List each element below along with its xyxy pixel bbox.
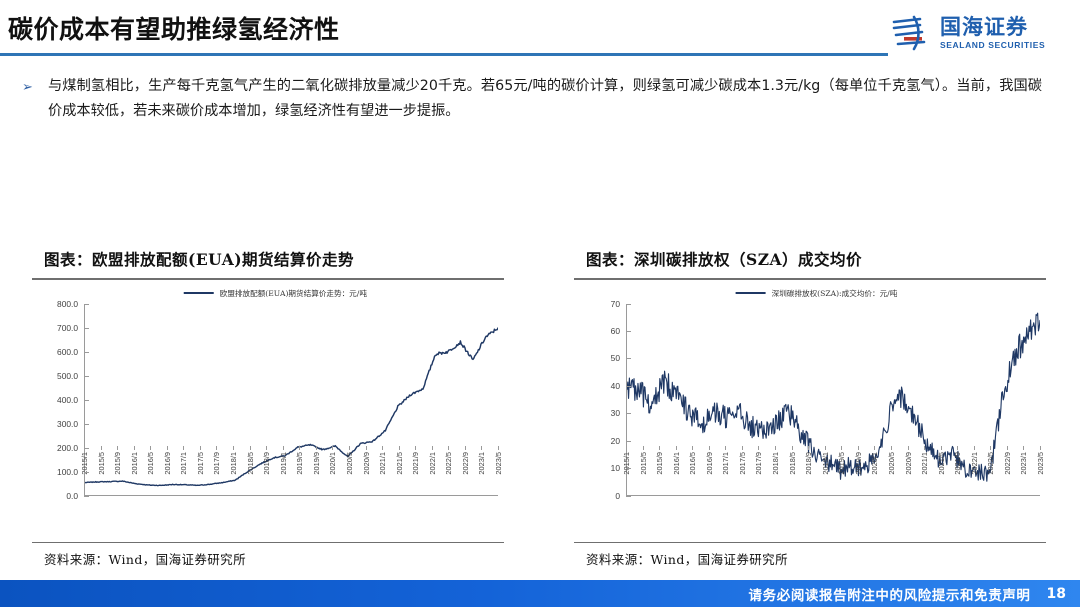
sealand-logo-mark-icon [890, 13, 932, 53]
x-axis-tickmark [498, 446, 499, 450]
x-axis-tick: 2015/5 [639, 452, 648, 475]
y-axis-tickmark [84, 304, 89, 305]
x-axis-tickmark [382, 446, 383, 450]
chart-legend-sza: 深圳碳排放权(SZA):成交均价：元/吨 [736, 288, 898, 299]
x-axis-tickmark [742, 446, 743, 450]
x-axis-tickmark [659, 446, 660, 450]
y-axis-tick: 700.0 [57, 323, 78, 333]
body-paragraph: 与煤制氢相比，生产每千克氢气产生的二氧化碳排放量减少20千克。若65元/吨的碳价… [48, 74, 1058, 124]
x-axis-tickmark [117, 446, 118, 450]
x-axis-tickmark [676, 446, 677, 450]
x-axis-tick: 2017/1 [721, 452, 730, 475]
y-axis-tickmark [626, 441, 631, 442]
logo-name-cn: 国海证券 [940, 17, 1045, 38]
logo-text: 国海证券 SEALAND SECURITIES [940, 17, 1045, 50]
y-axis-tickmark [626, 358, 631, 359]
y-axis-tickmark [84, 448, 89, 449]
x-axis-tick: 2021/5 [395, 452, 404, 475]
x-axis-tick: 2023/5 [494, 452, 503, 475]
x-axis-tick: 2019/9 [312, 452, 321, 475]
x-axis-tickmark [709, 446, 710, 450]
slide-footer: 请务必阅读报告附注中的风险提示和免责声明 18 [0, 580, 1080, 607]
x-axis-tickmark [299, 446, 300, 450]
x-axis-tick: 2018/9 [804, 452, 813, 475]
x-axis-tick: 2015/1 [622, 452, 631, 475]
x-axis-tickmark [692, 446, 693, 450]
x-axis-tick: 2015/9 [113, 452, 122, 475]
x-axis-tickmark [775, 446, 776, 450]
x-axis-tickmark [1007, 446, 1008, 450]
chart-source-eua: 资料来源：Wind，国海证券研究所 [32, 543, 504, 568]
x-axis-tickmark [626, 446, 627, 450]
x-axis-tick: 2021/1 [920, 452, 929, 475]
x-axis-tick: 2023/1 [477, 452, 486, 475]
x-axis-tickmark [725, 446, 726, 450]
x-axis-tickmark [233, 446, 234, 450]
x-axis-tickmark [216, 446, 217, 450]
x-axis-tickmark [250, 446, 251, 450]
x-axis-tick: 2021/9 [953, 452, 962, 475]
y-axis-tick: 70 [611, 299, 620, 309]
y-axis-tickmark [626, 386, 631, 387]
chart-body-sza: 深圳碳排放权(SZA):成交均价：元/吨 010203040506070 201… [574, 280, 1046, 542]
plot-wrap-eua: 0.0100.0200.0300.0400.0500.0600.0700.080… [32, 304, 498, 496]
y-axis-tick: 400.0 [57, 395, 78, 405]
x-axis-tick: 2018/1 [229, 452, 238, 475]
y-axis-tick: 30 [611, 408, 620, 418]
arrow-bullet-icon: ➢ [18, 74, 48, 124]
page-number: 18 [1047, 586, 1066, 602]
x-axis-tick: 2017/9 [754, 452, 763, 475]
x-axis-eua: 2015/12015/52015/92016/12016/52016/92017… [84, 450, 498, 496]
y-axis-tickmark [626, 304, 631, 305]
company-logo: 国海证券 SEALAND SECURITIES [890, 11, 1070, 55]
page-title: 碳价成本有望助推绿氢经济性 [8, 10, 340, 46]
x-axis-tickmark [283, 446, 284, 450]
x-axis-tick: 2016/1 [130, 452, 139, 475]
chart-panel-eua: 图表：欧盟排放配额(EUA)期货结算价走势 欧盟排放配额(EUA)期货结算价走势… [32, 244, 504, 580]
x-axis-tickmark [316, 446, 317, 450]
x-axis-tickmark [332, 446, 333, 450]
plot-wrap-sza: 010203040506070 2015/12015/52015/92016/1… [574, 304, 1040, 496]
bullet-paragraph-row: ➢ 与煤制氢相比，生产每千克氢气产生的二氧化碳排放量减少20千克。若65元/吨的… [18, 74, 1058, 124]
y-axis-tickmark [84, 376, 89, 377]
x-axis-tickmark [1023, 446, 1024, 450]
x-axis-tickmark [167, 446, 168, 450]
x-axis-tick: 2015/9 [655, 452, 664, 475]
y-axis-tickmark [626, 468, 631, 469]
legend-swatch-icon [736, 292, 766, 295]
y-axis-eua: 0.0100.0200.0300.0400.0500.0600.0700.080… [32, 304, 84, 496]
x-axis-tickmark [792, 446, 793, 450]
y-axis-tick: 600.0 [57, 347, 78, 357]
x-axis-tickmark [200, 446, 201, 450]
x-axis-tickmark [841, 446, 842, 450]
y-axis-tickmark [84, 424, 89, 425]
chart-body-eua: 欧盟排放配额(EUA)期货结算价走势：元/吨 0.0100.0200.0300.… [32, 280, 504, 542]
x-axis-tick: 2022/1 [428, 452, 437, 475]
y-axis-tickmark [84, 496, 89, 497]
x-axis-tickmark [415, 446, 416, 450]
x-axis-tick: 2016/9 [163, 452, 172, 475]
chart-title-eua: 图表：欧盟排放配额(EUA)期货结算价走势 [32, 244, 504, 278]
x-axis-tick: 2016/9 [705, 452, 714, 475]
x-axis-tick: 2017/1 [179, 452, 188, 475]
x-axis-tickmark [891, 446, 892, 450]
y-axis-tickmark [84, 400, 89, 401]
x-axis-tickmark [643, 446, 644, 450]
y-axis-sza: 010203040506070 [574, 304, 626, 496]
x-axis-tickmark [941, 446, 942, 450]
x-axis-sza: 2015/12015/52015/92016/12016/52016/92017… [626, 450, 1040, 496]
chart-source-sza: 资料来源：Wind，国海证券研究所 [574, 543, 1046, 568]
x-axis-tick: 2017/9 [212, 452, 221, 475]
x-axis-tickmark [366, 446, 367, 450]
x-axis-tick: 2019/1 [279, 452, 288, 475]
slide-header: 碳价成本有望助推绿氢经济性 国海证券 [0, 0, 1080, 62]
x-axis-tick: 2020/5 [887, 452, 896, 475]
x-axis-tick: 2021/9 [411, 452, 420, 475]
y-axis-tickmark [84, 352, 89, 353]
x-axis-tickmark [874, 446, 875, 450]
x-axis-tick: 2023/5 [1036, 452, 1045, 475]
logo-name-en: SEALAND SECURITIES [940, 41, 1045, 50]
x-axis-tick: 2022/5 [444, 452, 453, 475]
chart-title-sza: 图表：深圳碳排放权（SZA）成交均价 [574, 244, 1046, 278]
x-axis-tickmark [825, 446, 826, 450]
y-axis-tick: 0 [615, 491, 620, 501]
footer-disclaimer: 请务必阅读报告附注中的风险提示和免责声明 [749, 584, 1031, 604]
title-underline [0, 53, 888, 56]
x-axis-tickmark [758, 446, 759, 450]
y-axis-tick: 60 [611, 326, 620, 336]
x-axis-tickmark [101, 446, 102, 450]
x-axis-tick: 2020/1 [870, 452, 879, 475]
x-axis-tickmark [974, 446, 975, 450]
x-axis-tick: 2017/5 [196, 452, 205, 475]
y-axis-tick: 50 [611, 353, 620, 363]
x-axis-tick: 2022/9 [1003, 452, 1012, 475]
y-axis-tick: 20 [611, 436, 620, 446]
x-axis-tickmark [183, 446, 184, 450]
x-axis-tick: 2018/5 [788, 452, 797, 475]
x-axis-tick: 2015/5 [97, 452, 106, 475]
x-axis-tick: 2017/5 [738, 452, 747, 475]
x-axis-tick: 2023/1 [1019, 452, 1028, 475]
chart-legend-eua: 欧盟排放配额(EUA)期货结算价走势：元/吨 [184, 288, 367, 299]
x-axis-tick: 2018/5 [246, 452, 255, 475]
x-axis-tickmark [1040, 446, 1041, 450]
chart-panel-sza: 图表：深圳碳排放权（SZA）成交均价 深圳碳排放权(SZA):成交均价：元/吨 … [574, 244, 1046, 580]
y-axis-tickmark [84, 472, 89, 473]
x-axis-tickmark [908, 446, 909, 450]
x-axis-tick: 2022/5 [986, 452, 995, 475]
slide: 碳价成本有望助推绿氢经济性 国海证券 [0, 0, 1080, 607]
x-axis-tick: 2016/5 [146, 452, 155, 475]
x-axis-tickmark [150, 446, 151, 450]
y-axis-tickmark [626, 331, 631, 332]
x-axis-tick: 2021/5 [937, 452, 946, 475]
legend-swatch-icon [184, 292, 214, 295]
x-axis-tickmark [448, 446, 449, 450]
x-axis-tick: 2020/9 [362, 452, 371, 475]
x-axis-tick: 2019/9 [854, 452, 863, 475]
x-axis-tickmark [349, 446, 350, 450]
x-axis-tickmark [399, 446, 400, 450]
y-axis-tick: 100.0 [57, 467, 78, 477]
y-axis-tick: 40 [611, 381, 620, 391]
x-axis-tick: 2022/1 [970, 452, 979, 475]
y-axis-tick: 200.0 [57, 443, 78, 453]
x-axis-tick: 2018/1 [771, 452, 780, 475]
x-axis-tickmark [957, 446, 958, 450]
x-axis-tickmark [858, 446, 859, 450]
x-axis-tick: 2019/5 [837, 452, 846, 475]
x-axis-tickmark [134, 446, 135, 450]
x-axis-tick: 2020/5 [345, 452, 354, 475]
x-axis-tick: 2019/5 [295, 452, 304, 475]
x-axis-tickmark [924, 446, 925, 450]
y-axis-tickmark [626, 413, 631, 414]
x-axis-tick: 2019/1 [821, 452, 830, 475]
legend-label-sza: 深圳碳排放权(SZA):成交均价：元/吨 [772, 288, 898, 299]
y-axis-tickmark [626, 496, 631, 497]
x-axis-tickmark [266, 446, 267, 450]
x-axis-tick: 2020/1 [328, 452, 337, 475]
legend-label-eua: 欧盟排放配额(EUA)期货结算价走势：元/吨 [220, 288, 367, 299]
x-axis-tickmark [481, 446, 482, 450]
y-axis-tick: 10 [611, 463, 620, 473]
y-axis-tick: 0.0 [66, 491, 78, 501]
x-axis-tickmark [990, 446, 991, 450]
y-axis-tick: 300.0 [57, 419, 78, 429]
x-axis-tick: 2020/9 [904, 452, 913, 475]
x-axis-tickmark [808, 446, 809, 450]
x-axis-tick: 2016/1 [672, 452, 681, 475]
x-axis-tick: 2021/1 [378, 452, 387, 475]
x-axis-tick: 2016/5 [688, 452, 697, 475]
x-axis-tickmark [432, 446, 433, 450]
y-axis-tickmark [84, 328, 89, 329]
x-axis-tick: 2018/9 [262, 452, 271, 475]
x-axis-tick: 2022/9 [461, 452, 470, 475]
x-axis-tickmark [465, 446, 466, 450]
y-axis-tick: 800.0 [57, 299, 78, 309]
y-axis-tick: 500.0 [57, 371, 78, 381]
